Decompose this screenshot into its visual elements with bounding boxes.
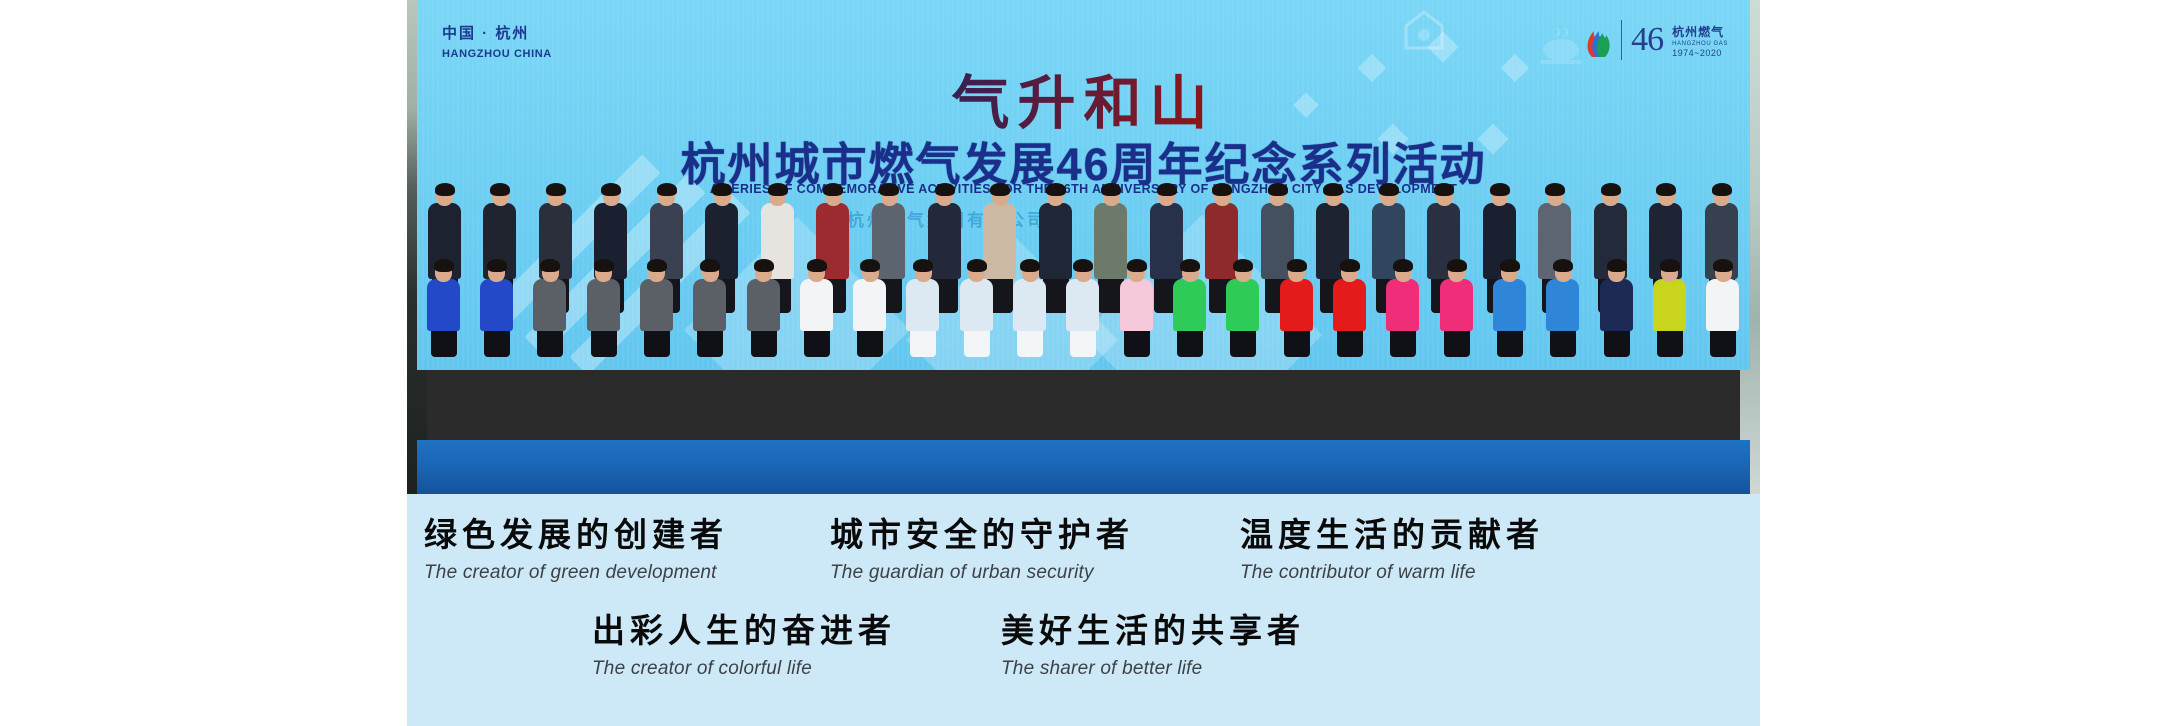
person	[693, 262, 727, 357]
person	[906, 262, 940, 357]
person	[1493, 262, 1527, 357]
brandmark-text: 杭州燃气 HANGZHOU GAS 1974~2020	[1672, 23, 1728, 58]
slogan-cn: 温度生活的贡献者	[1240, 516, 1544, 555]
person	[960, 262, 994, 357]
slogan-en: The guardian of urban security	[830, 562, 1134, 584]
group-photo: 中国 · 杭州 HANGZHOU CHINA 46 杭州燃气 HANGZHOU …	[407, 0, 1760, 494]
company-name-cn: 杭州燃气	[1672, 23, 1728, 40]
slogan-en: The creator of green development	[424, 562, 728, 584]
slogan-cn: 出彩人生的奋进者	[592, 612, 896, 651]
person	[1333, 262, 1367, 357]
slogan-cn: 美好生活的共享者	[1001, 612, 1305, 651]
slogan-cn: 绿色发展的创建者	[424, 516, 728, 555]
person	[1600, 262, 1634, 357]
slogan-section: 绿色发展的创建者 The creator of green developmen…	[407, 494, 1760, 726]
person	[480, 262, 514, 357]
person	[1173, 262, 1207, 357]
slogan-en: The sharer of better life	[1001, 658, 1305, 680]
person	[427, 262, 461, 357]
slogan-item: 出彩人生的奋进者 The creator of colorful life	[592, 612, 896, 680]
locale-block: 中国 · 杭州 HANGZHOU CHINA	[442, 25, 552, 60]
group-photo-people	[417, 186, 1750, 446]
person	[1013, 262, 1047, 357]
person	[1546, 262, 1580, 357]
person	[1386, 262, 1420, 357]
person	[1066, 262, 1100, 357]
person	[853, 262, 887, 357]
person	[533, 262, 567, 357]
page-root: 中国 · 杭州 HANGZHOU CHINA 46 杭州燃气 HANGZHOU …	[0, 0, 2179, 726]
slogan-item: 美好生活的共享者 The sharer of better life	[1001, 612, 1305, 680]
person	[747, 262, 781, 357]
house-icon	[1402, 8, 1446, 52]
anniversary-number: 46	[1631, 23, 1663, 57]
person	[1120, 262, 1154, 357]
slogan-en: The creator of colorful life	[592, 658, 896, 680]
person	[1440, 262, 1474, 357]
person	[1653, 262, 1687, 357]
stage-floor	[417, 440, 1750, 494]
brandmark: 46 杭州燃气 HANGZHOU GAS 1974~2020	[1582, 20, 1728, 60]
brandmark-divider	[1621, 20, 1622, 60]
slogan-item: 绿色发展的创建者 The creator of green developmen…	[424, 516, 728, 584]
person	[1280, 262, 1314, 357]
people-row-front	[417, 262, 1750, 357]
flame-icon	[1582, 21, 1612, 59]
person	[587, 262, 621, 357]
slogan-row-bottom: 出彩人生的奋进者 The creator of colorful life 美好…	[407, 612, 1760, 680]
slogan-row-top: 绿色发展的创建者 The creator of green developmen…	[407, 516, 1760, 584]
slogan-item: 城市安全的守护者 The guardian of urban security	[830, 516, 1134, 584]
person	[640, 262, 674, 357]
person	[800, 262, 834, 357]
slogan-cn: 城市安全的守护者	[830, 516, 1134, 555]
company-name-en: HANGZHOU GAS	[1672, 41, 1728, 47]
content-column: 中国 · 杭州 HANGZHOU CHINA 46 杭州燃气 HANGZHOU …	[407, 0, 1760, 726]
person	[1226, 262, 1260, 357]
slogan-item: 温度生活的贡献者 The contributor of warm life	[1240, 516, 1544, 584]
person	[1706, 262, 1740, 357]
locale-cn: 中国 · 杭州	[442, 25, 552, 43]
slogan-en: The contributor of warm life	[1240, 562, 1544, 584]
